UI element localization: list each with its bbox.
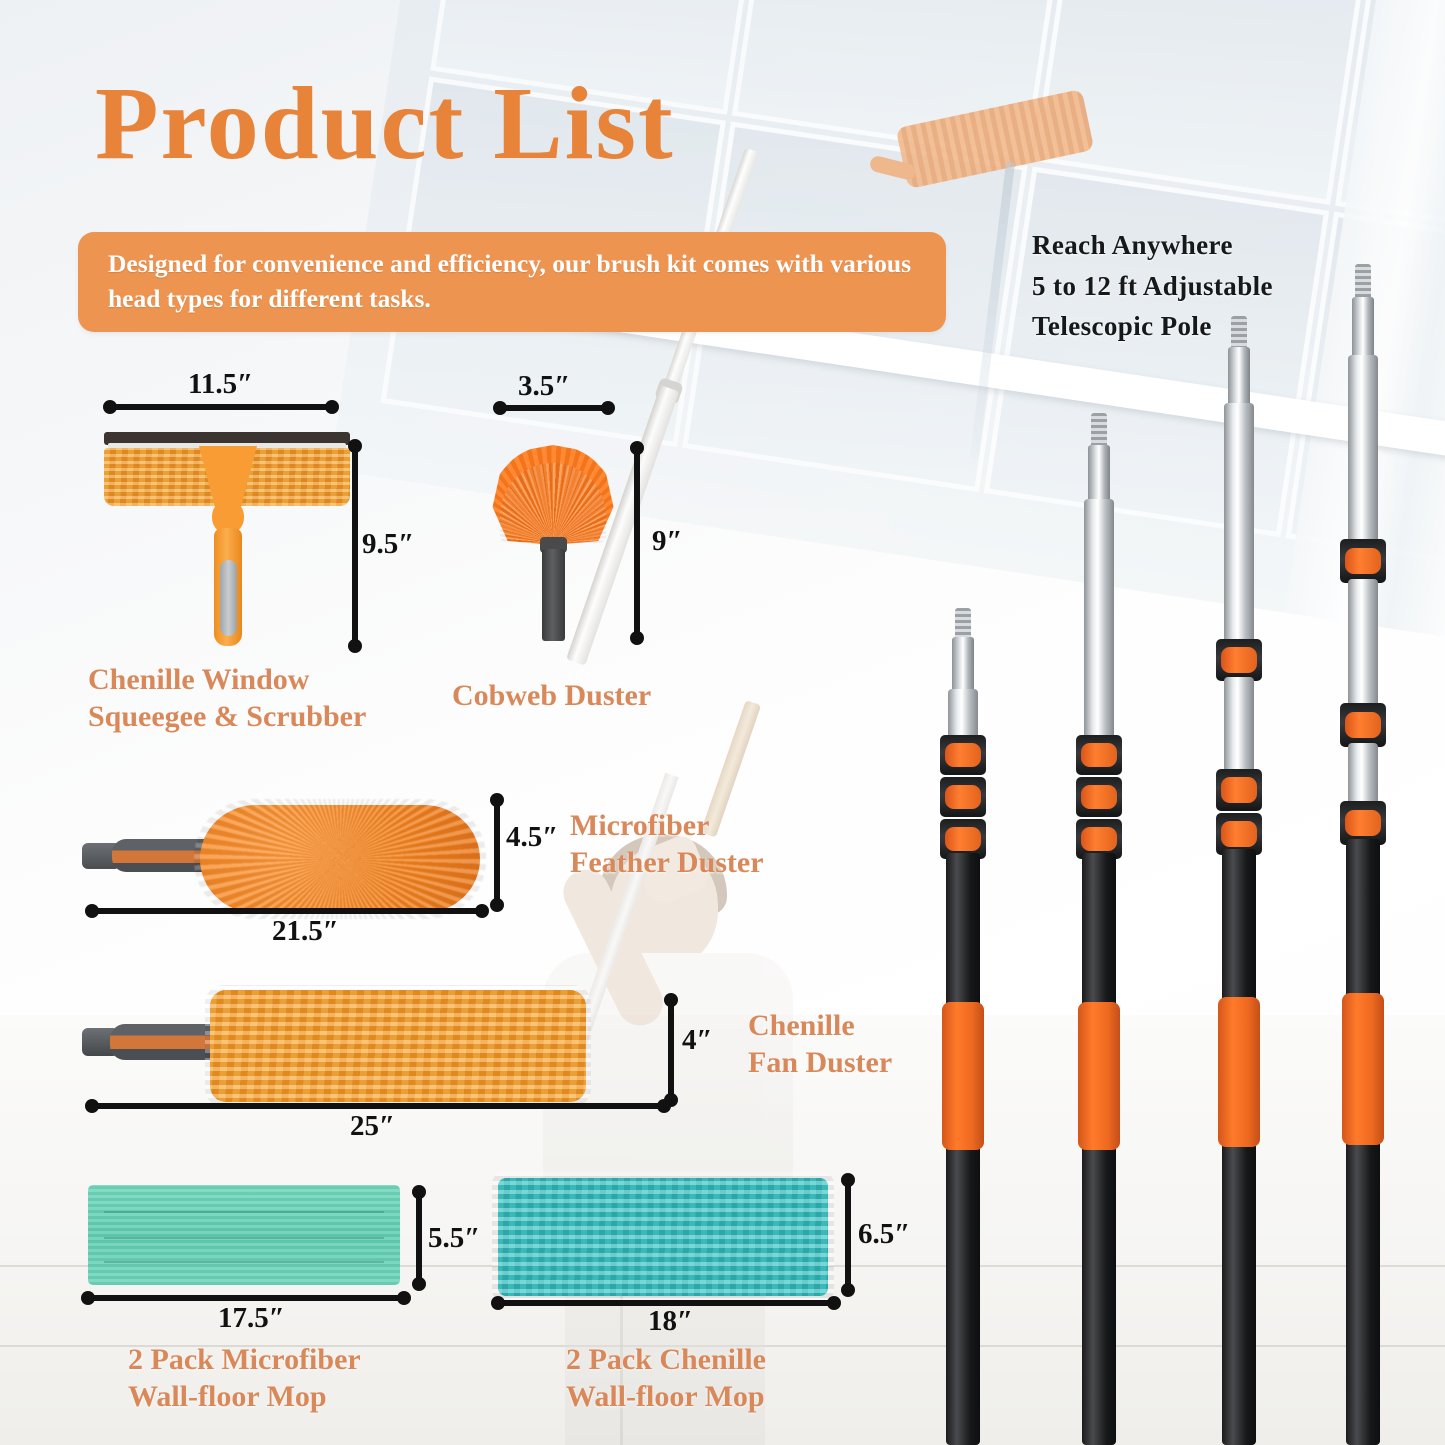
pole-1-foam-grip — [942, 1002, 984, 1150]
pole-3-foam-grip — [1218, 997, 1260, 1147]
product-label-cobweb-duster: Cobweb Duster — [452, 678, 651, 715]
mop-pad-stitch — [104, 1237, 385, 1239]
pole-4-lock-lever-lower[interactable] — [1345, 810, 1381, 836]
dimension-line-chenillemop-height — [845, 1180, 851, 1290]
product-image-microfiber-wall-floor-mop — [88, 1185, 400, 1285]
product-label-chenille-window-squeegee: Chenille Window Squeegee & Scrubber — [88, 662, 366, 735]
pole-2-lock-collar-middle — [1076, 777, 1122, 817]
pole-2-lock-collar-upper — [1076, 735, 1122, 775]
pole-2-foam-grip — [1078, 1002, 1120, 1150]
dimension-label-chenillemop-width: 18″ — [648, 1305, 693, 1338]
pole-2-lock-lever-upper[interactable] — [1081, 743, 1117, 767]
pole-3-silver-segment-upper — [1224, 403, 1254, 645]
chenille-mop-pad — [498, 1178, 828, 1296]
dimension-label-squeegee-height: 9.5″ — [362, 528, 414, 561]
dimension-line-microfibermop-width — [88, 1295, 404, 1301]
pole-4-lock-collar-top — [1340, 539, 1386, 583]
dimension-line-microfibermop-height — [416, 1192, 422, 1284]
feather-duster-microfiber-head — [200, 805, 480, 913]
dimension-label-cobweb-height: 9″ — [652, 525, 683, 558]
dimension-label-microfibermop-width: 17.5″ — [218, 1302, 285, 1335]
dimension-line-fanduster-width — [92, 1103, 664, 1109]
pole-3-thread-tip-icon — [1231, 316, 1247, 350]
telescopic-pole-2 — [1076, 300, 1122, 1445]
pole-4-lock-lever-top[interactable] — [1345, 548, 1381, 574]
product-image-cobweb-duster — [490, 445, 616, 645]
pole-2-silver-segment — [1084, 499, 1114, 745]
pole-2-metal-tip — [1088, 445, 1110, 503]
pole-4-metal-tip — [1352, 297, 1374, 359]
dimension-label-feather-height: 4.5″ — [506, 821, 558, 854]
dimension-label-microfibermop-height: 5.5″ — [428, 1222, 480, 1255]
dimension-label-feather-width: 21.5″ — [272, 915, 339, 948]
pole-3-lock-lever-middle[interactable] — [1221, 777, 1257, 802]
pole-1-thread-tip-icon — [955, 608, 971, 640]
pole-3-lock-lever-upper[interactable] — [1221, 647, 1257, 672]
pole-3-lock-collar-upper — [1216, 639, 1262, 681]
dimension-label-fanduster-width: 25″ — [350, 1110, 395, 1143]
pole-3-silver-segment-lower — [1224, 677, 1254, 773]
pole-3-lock-collar-middle — [1216, 769, 1262, 811]
reach-line-1: Reach Anywhere — [1032, 225, 1273, 266]
pole-1-lock-collar-upper — [940, 735, 986, 775]
pole-1-lock-lever-lower[interactable] — [945, 827, 981, 851]
telescopic-pole-3 — [1216, 300, 1262, 1445]
product-label-microfiber-feather-duster: Microfiber Feather Duster — [570, 808, 764, 881]
telescopic-pole-4 — [1340, 300, 1386, 1445]
dimension-line-cobweb-height — [634, 448, 640, 638]
pole-3-lock-lever-lower[interactable] — [1221, 821, 1257, 846]
dimension-label-squeegee-width: 11.5″ — [188, 368, 253, 401]
dimension-line-squeegee-width — [110, 404, 332, 410]
pole-4-foam-grip — [1342, 993, 1384, 1145]
product-image-microfiber-feather-duster — [82, 805, 482, 915]
page-title: Product List — [95, 72, 675, 176]
dimension-line-feather-height — [494, 800, 500, 905]
pole-1-lock-lever-upper[interactable] — [945, 743, 981, 767]
pole-4-silver-segment-top — [1348, 355, 1378, 545]
pole-1-metal-tip — [952, 637, 974, 693]
telescopic-pole-1 — [940, 300, 986, 1445]
pole-1-lock-collar-middle — [940, 777, 986, 817]
pole-4-silver-segment-middle — [1348, 579, 1378, 709]
product-image-chenille-wall-floor-mop — [498, 1178, 828, 1296]
product-image-chenille-fan-duster — [82, 988, 592, 1103]
pole-2-thread-tip-icon — [1091, 413, 1107, 447]
dimension-line-fanduster-height — [668, 1000, 674, 1100]
product-label-chenille-wall-floor-mop: 2 Pack Chenille Wall-floor Mop — [566, 1342, 766, 1415]
product-image-chenille-window-squeegee — [104, 432, 350, 647]
pole-2-lock-lever-middle[interactable] — [1081, 785, 1117, 809]
pole-4-silver-segment-lower — [1348, 743, 1378, 805]
dimension-label-fanduster-height: 4″ — [682, 1024, 713, 1057]
squeegee-rubber-grip — [220, 560, 237, 636]
dimension-line-cobweb-width — [500, 405, 608, 411]
dimension-label-chenillemop-height: 6.5″ — [858, 1218, 910, 1251]
dimension-line-feather-width — [92, 908, 482, 914]
pole-3-black-shaft — [1222, 849, 1256, 1445]
dimension-line-squeegee-height — [352, 446, 358, 646]
mop-pad-stitch — [104, 1261, 385, 1263]
product-label-microfiber-wall-floor-mop: 2 Pack Microfiber Wall-floor Mop — [128, 1342, 361, 1415]
pole-4-lock-lever-middle[interactable] — [1345, 712, 1381, 738]
description-badge: Designed for convenience and efficiency,… — [78, 232, 946, 332]
dimension-label-cobweb-width: 3.5″ — [518, 370, 570, 403]
pole-3-metal-tip — [1228, 347, 1250, 407]
mop-pad-stitch — [104, 1211, 385, 1213]
microfiber-mop-pad — [88, 1185, 400, 1285]
fan-duster-chenille-pad — [210, 990, 586, 1102]
telescopic-pole-group — [930, 300, 1445, 1445]
pole-4-lock-collar-middle — [1340, 703, 1386, 747]
infographic-canvas: Product List Designed for convenience an… — [0, 0, 1445, 1445]
pole-4-thread-tip-icon — [1355, 264, 1371, 300]
description-text: Designed for convenience and efficiency,… — [78, 232, 946, 316]
product-label-chenille-fan-duster: Chenille Fan Duster — [748, 1008, 892, 1081]
pole-1-lock-lever-middle[interactable] — [945, 785, 981, 809]
cobweb-stem — [542, 549, 565, 641]
pole-2-lock-lever-lower[interactable] — [1081, 827, 1117, 851]
